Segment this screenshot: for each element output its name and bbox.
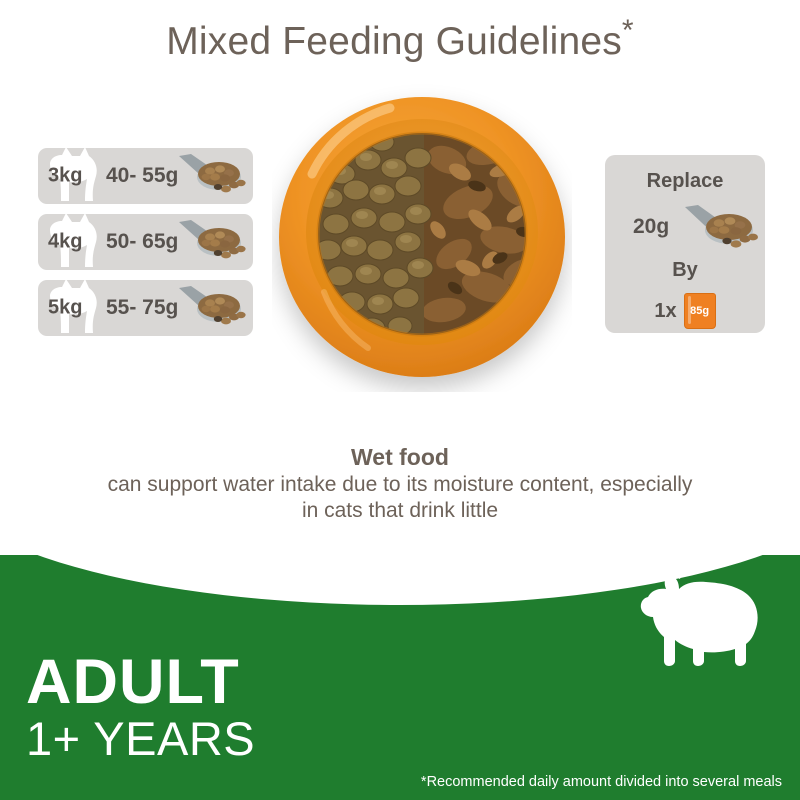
cell-amount: 50- 65g: [106, 230, 178, 254]
kibble-scoop-icon: [177, 218, 249, 266]
life-stage-banner: ADULT 1+ YEARS *Recommended daily amount…: [0, 555, 800, 800]
page-title-asterisk: *: [622, 14, 634, 47]
page-title: Mixed Feeding Guidelines*: [0, 14, 800, 64]
replace-dry-amount: 20g: [633, 215, 669, 239]
replace-panel-title: Replace: [605, 170, 765, 193]
wet-food-pouch-icon: 85g: [684, 293, 716, 329]
table-row: 3kg 40- 55g: [38, 148, 253, 204]
feeding-table: 3kg 40- 55g 4kg 5: [38, 148, 253, 346]
cell-amount: 55- 75g: [106, 296, 178, 320]
replace-connector: By: [605, 259, 765, 282]
table-row: 4kg 50- 65g: [38, 214, 253, 270]
cell-weight: 4kg: [48, 231, 82, 254]
footnote-text: *Recommended daily amount divided into s…: [421, 774, 782, 790]
feeding-guidelines-panel: Mixed Feeding Guidelines* 3kg 40- 55g: [0, 0, 800, 800]
kibble-scoop-icon: [177, 152, 249, 200]
wet-food-line-1: can support water intake due to its mois…: [0, 472, 800, 498]
page-title-text: Mixed Feeding Guidelines: [166, 20, 622, 63]
kibble-scoop-icon: [683, 203, 761, 255]
kibble-scoop-icon: [177, 284, 249, 332]
pouch-size-label: 85g: [690, 305, 709, 317]
bowl-graphic: [272, 82, 572, 392]
age-range-label: 1+ YEARS: [26, 715, 255, 762]
wet-food-line-2: in cats that drink little: [0, 498, 800, 524]
cell-amount: 40- 55g: [106, 164, 178, 188]
replace-quantity: 1x: [654, 300, 676, 323]
cell-weight: 5kg: [48, 297, 82, 320]
life-stage-label: ADULT: [26, 651, 240, 714]
mixed-food-bowl-image: [272, 82, 572, 392]
replace-panel: Replace 20g By 1x 85g: [605, 155, 765, 333]
cell-weight: 3kg: [48, 165, 82, 188]
table-row: 5kg 55- 75g: [38, 280, 253, 336]
replace-pouch-row: 1x 85g: [605, 293, 765, 329]
wet-food-heading: Wet food: [0, 444, 800, 471]
wet-food-section: Wet food can support water intake due to…: [0, 444, 800, 523]
sheep-silhouette-icon: [622, 561, 772, 671]
